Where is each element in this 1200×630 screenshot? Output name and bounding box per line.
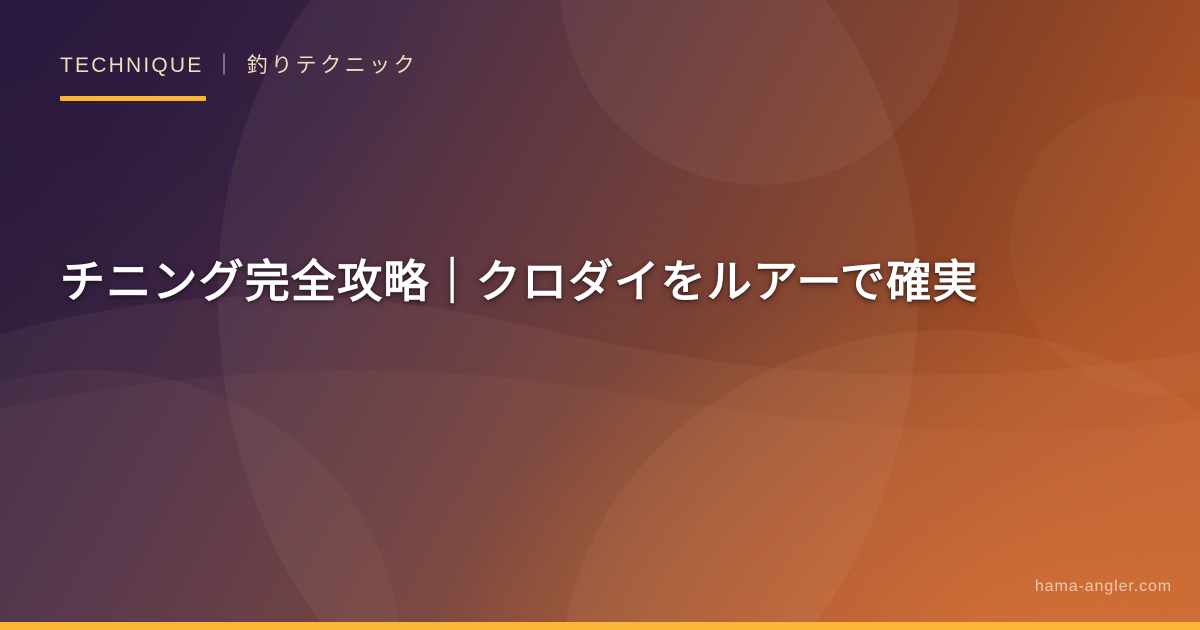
- category-label-ja: 釣りテクニック: [247, 54, 419, 77]
- category-label-separator: ｜: [203, 54, 246, 77]
- page-title: チニング完全攻略｜クロダイをルアーで確実: [60, 252, 1150, 312]
- category-label: TECHNIQUE｜釣りテクニック: [60, 55, 418, 76]
- og-image-card: TECHNIQUE｜釣りテクニック チニング完全攻略｜クロダイをルアーで確実 h…: [0, 0, 1200, 630]
- accent-underline: [60, 96, 206, 101]
- eyebrow-block: TECHNIQUE｜釣りテクニック: [60, 55, 418, 101]
- bottom-accent-bar: [0, 622, 1200, 630]
- category-label-en: TECHNIQUE: [60, 54, 203, 77]
- site-domain: hama-angler.com: [1035, 578, 1172, 596]
